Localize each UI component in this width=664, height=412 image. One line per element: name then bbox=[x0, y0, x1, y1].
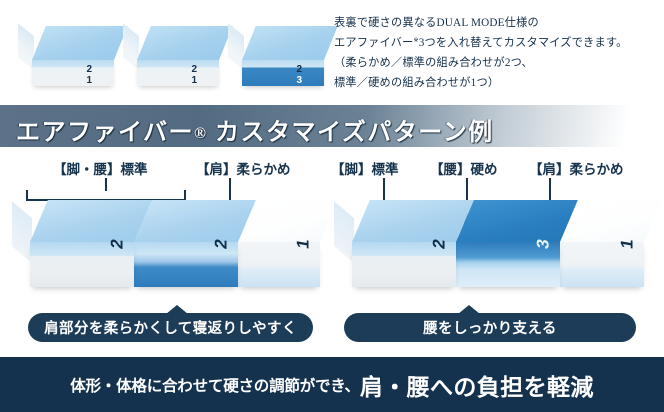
banner-text-small: 体形・体格に合わせて硬さの調節ができ、 bbox=[70, 374, 360, 396]
segment-top-face bbox=[456, 200, 578, 242]
pill-notch-icon bbox=[166, 305, 188, 314]
caption-pill-right: 腰をしっかり支える bbox=[344, 313, 636, 342]
dual-mode-block-group: 2 1 2 1 2 3 bbox=[18, 12, 323, 98]
dual-mode-block-2: 2 1 bbox=[123, 26, 219, 88]
block-top-face bbox=[242, 26, 338, 60]
block-top-face bbox=[137, 26, 233, 60]
block-lower-layer-number: 1 bbox=[191, 76, 197, 86]
segment-side-face bbox=[334, 201, 354, 263]
note-mark-icon: ※ bbox=[414, 37, 419, 43]
block-top-face bbox=[32, 26, 128, 60]
label-legs-hips-standard: 【脚・腰】標準 bbox=[53, 158, 148, 178]
mattress-segment-legs: 2 bbox=[334, 200, 456, 300]
registered-trademark-icon: ® bbox=[194, 125, 207, 142]
description-line-3: （柔らかめ／標準の組み合わせが2つ、 bbox=[334, 54, 654, 74]
mattress-right: 2 3 1 bbox=[334, 200, 644, 300]
block-lower-layer-number: 3 bbox=[296, 76, 302, 86]
block-lower-layer-number: 1 bbox=[86, 76, 92, 86]
description-line-4: 標準／硬めの組み合わせが1つ） bbox=[334, 74, 654, 94]
segment-top-face bbox=[30, 200, 152, 242]
section-title-band: エアファイバー® カスタマイズパターン例 bbox=[0, 105, 664, 147]
mattress-segment-legs: 2 bbox=[12, 200, 134, 300]
segment-side-face bbox=[12, 201, 32, 263]
segment-top-face bbox=[134, 200, 256, 242]
block-upper-layer-number: 2 bbox=[296, 65, 302, 75]
segment-top-face bbox=[560, 200, 662, 242]
block-front-face bbox=[242, 60, 324, 86]
label-shoulder-soft: 【肩】柔らかめ bbox=[196, 158, 291, 178]
bottom-banner: 体形・体格に合わせて硬さの調節ができ、肩・腰への負担を軽減 bbox=[0, 357, 664, 412]
description-line-1: 表裏で硬さの異なるDUAL MODE仕様の bbox=[334, 14, 654, 34]
mattress-left: 2 2 1 bbox=[12, 200, 317, 300]
caption-text-left: 肩部分を柔らかくして寝返りしやすく bbox=[44, 317, 297, 338]
infographic-page: 2 1 2 1 2 3 表裏で硬さの異なるDUAL MODE仕様の エアファイバ… bbox=[0, 0, 664, 412]
page-title: エアファイバー® カスタマイズパターン例 bbox=[16, 112, 494, 147]
block-front-face bbox=[32, 60, 114, 86]
pill-notch-icon bbox=[458, 305, 480, 314]
block-upper-layer-number: 2 bbox=[191, 65, 197, 75]
label-hips-hard: 【腰】硬め bbox=[430, 158, 498, 178]
dual-mode-description: 表裏で硬さの異なるDUAL MODE仕様の エアファイバー※3つを入れ替えてカス… bbox=[334, 14, 654, 94]
title-rest: カスタマイズパターン例 bbox=[207, 120, 493, 146]
caption-text-right: 腰をしっかり支える bbox=[423, 317, 557, 338]
bracket-stem-legs-hips bbox=[105, 178, 107, 191]
dual-mode-block-3: 2 3 bbox=[228, 26, 324, 88]
block-front-face bbox=[137, 60, 219, 86]
segment-top-face bbox=[352, 200, 474, 242]
description-line-2: エアファイバー※3つを入れ替えてカスタマイズできます。 bbox=[334, 34, 654, 54]
caption-pill-left: 肩部分を柔らかくして寝返りしやすく bbox=[28, 313, 313, 342]
title-main: エアファイバー bbox=[16, 120, 194, 146]
block-upper-layer-number: 2 bbox=[86, 65, 92, 75]
label-shoulder-soft: 【肩】柔らかめ bbox=[529, 158, 624, 178]
dual-mode-block-1: 2 1 bbox=[18, 26, 114, 88]
label-legs-standard: 【脚】標準 bbox=[331, 158, 399, 178]
banner-text-large: 肩・腰への負担を軽減 bbox=[360, 368, 594, 402]
